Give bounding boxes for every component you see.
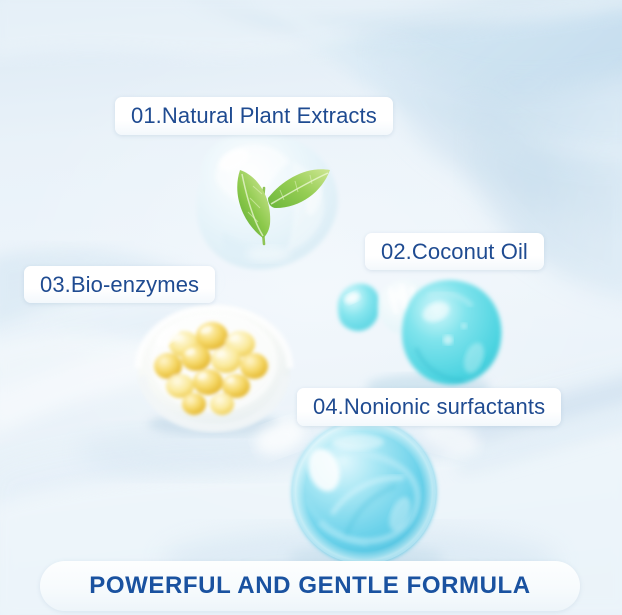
ingredient-label-02: 02.Coconut Oil [365, 233, 544, 270]
ingredient-label-03: 03.Bio-enzymes [24, 266, 215, 303]
headline-text: POWERFUL AND GENTLE FORMULA [89, 572, 531, 600]
ingredient-visual-nonionic-surfactants [258, 418, 476, 570]
ingredient-label-04-text: 04.Nonionic surfactants [313, 394, 545, 420]
ingredient-label-02-text: 02.Coconut Oil [381, 239, 528, 265]
ingredient-label-04: 04.Nonionic surfactants [297, 388, 561, 426]
ingredient-label-01: 01.Natural Plant Extracts [115, 97, 393, 135]
ingredient-visual-coconut-oil [324, 266, 514, 408]
ingredient-visual-natural-plant-extracts [172, 126, 354, 278]
headline-banner: POWERFUL AND GENTLE FORMULA [40, 561, 580, 611]
ingredient-label-03-text: 03.Bio-enzymes [40, 272, 199, 298]
ingredient-label-01-text: 01.Natural Plant Extracts [131, 103, 377, 129]
ingredient-poster: 01.Natural Plant Extracts 02.Coconut Oil… [0, 0, 622, 615]
